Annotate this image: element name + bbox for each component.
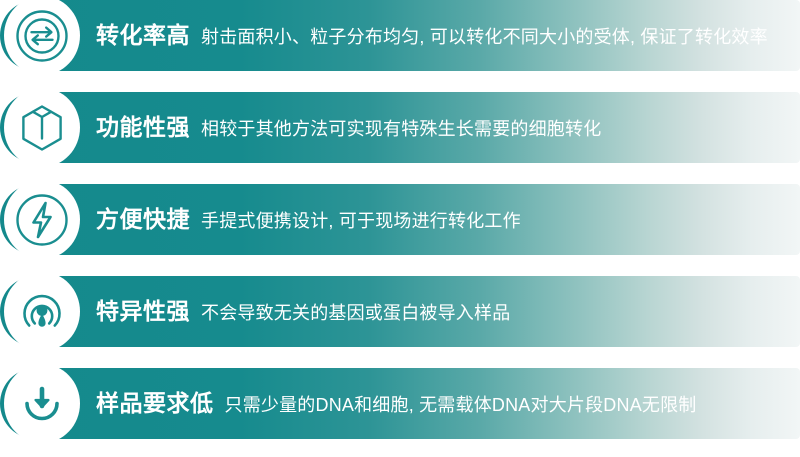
feature-icon-badge [4,0,80,75]
feature-icon-badge [4,180,80,259]
feature-icon-badge [4,88,80,167]
feature-title: 方便快捷 [96,208,190,231]
feature-title: 特异性强 [96,300,190,323]
feature-text: 特异性强 不会导致无关的基因或蛋白被导入样品 [96,300,510,323]
feature-title: 转化率高 [96,24,190,47]
download-bowl-icon [15,377,69,431]
feature-text: 转化率高 射击面积小、粒子分布均匀, 可以转化不同大小的受体, 保证了转化效率 [96,24,768,47]
feature-list: 转化率高 射击面积小、粒子分布均匀, 可以转化不同大小的受体, 保证了转化效率 … [0,0,800,457]
cube-hexagon-icon [15,101,69,155]
feature-row: 方便快捷 手提式便携设计, 可于现场进行转化工作 [0,184,800,255]
feature-row: 功能性强 相较于其他方法可实现有特殊生长需要的细胞转化 [0,92,800,163]
feature-description: 不会导致无关的基因或蛋白被导入样品 [201,304,510,322]
feature-icon-badge [4,272,80,351]
feature-title: 样品要求低 [96,392,214,415]
feature-row: 转化率高 射击面积小、粒子分布均匀, 可以转化不同大小的受体, 保证了转化效率 [0,0,800,71]
feature-row: 特异性强 不会导致无关的基因或蛋白被导入样品 [0,276,800,347]
feature-icon-badge [4,364,80,443]
lightning-bolt-icon [15,193,69,247]
feature-text: 功能性强 相较于其他方法可实现有特殊生长需要的细胞转化 [96,116,601,139]
feature-description: 射击面积小、粒子分布均匀, 可以转化不同大小的受体, 保证了转化效率 [201,28,768,46]
feature-text: 方便快捷 手提式便携设计, 可于现场进行转化工作 [96,208,521,231]
feature-text: 样品要求低 只需少量的DNA和细胞, 无需载体DNA对大片段DNA无限制 [96,392,697,415]
feature-description: 相较于其他方法可实现有特殊生长需要的细胞转化 [201,120,601,138]
feature-title: 功能性强 [96,116,190,139]
feature-description: 只需少量的DNA和细胞, 无需载体DNA对大片段DNA无限制 [225,396,697,414]
feature-description: 手提式便携设计, 可于现场进行转化工作 [201,212,521,230]
exchange-arrows-icon [15,9,69,63]
feature-row: 样品要求低 只需少量的DNA和细胞, 无需载体DNA对大片段DNA无限制 [0,368,800,439]
target-droplet-icon [15,285,69,339]
